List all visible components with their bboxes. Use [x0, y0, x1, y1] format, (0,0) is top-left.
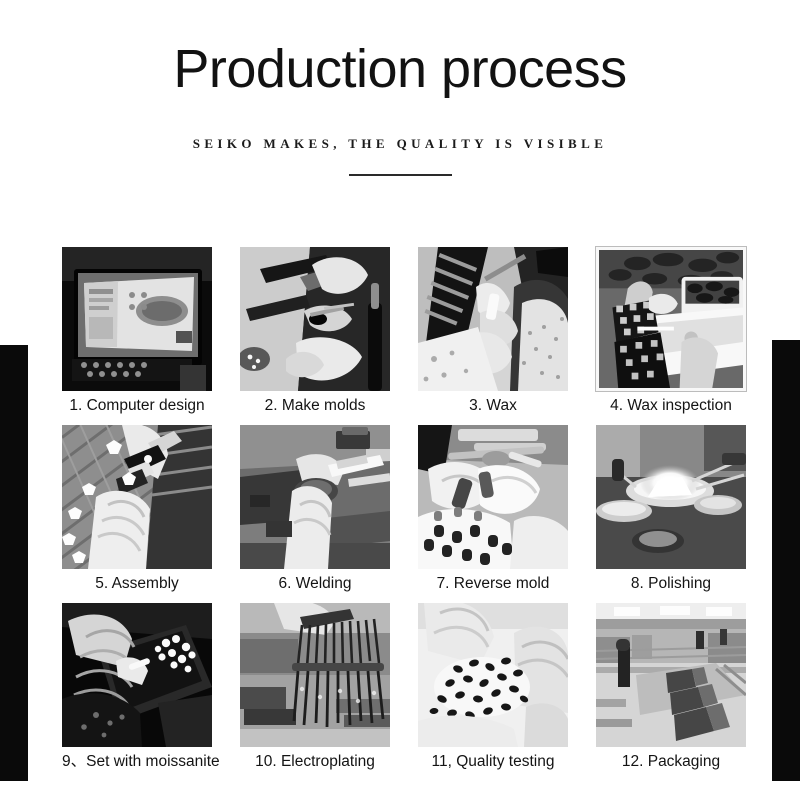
- step-caption: 5. Assembly: [62, 569, 212, 598]
- page-root: Production process SEIKO MAKES, THE QUAL…: [0, 0, 800, 795]
- page-title: Production process: [0, 0, 800, 100]
- step-image-polishing[interactable]: [596, 425, 746, 569]
- process-step-5[interactable]: 5. Assembly: [62, 425, 212, 598]
- step-caption: 12. Packaging: [596, 747, 746, 776]
- step-image-packaging[interactable]: [596, 603, 746, 747]
- process-step-11[interactable]: 11, Quality testing: [418, 603, 568, 776]
- process-step-4[interactable]: 4. Wax inspection: [596, 247, 746, 420]
- step-image-set-moissanite[interactable]: [62, 603, 212, 747]
- process-step-10[interactable]: 10. Electroplating: [240, 603, 390, 776]
- process-step-1[interactable]: 1. Computer design: [62, 247, 212, 420]
- step-image-wax-inspection[interactable]: [596, 247, 746, 391]
- page-header: Production process SEIKO MAKES, THE QUAL…: [0, 0, 800, 215]
- step-image-assembly[interactable]: [62, 425, 212, 569]
- step-image-quality-testing[interactable]: [418, 603, 568, 747]
- step-caption: 11, Quality testing: [418, 747, 568, 776]
- step-caption: 10. Electroplating: [240, 747, 390, 776]
- left-black-bar: [0, 345, 28, 781]
- page-subtitle: SEIKO MAKES, THE QUALITY IS VISIBLE: [0, 100, 800, 152]
- process-step-grid: 1. Computer design: [62, 247, 746, 776]
- process-step-12[interactable]: 12. Packaging: [596, 603, 746, 776]
- step-caption: 3. Wax: [418, 391, 568, 420]
- process-step-7[interactable]: 7. Reverse mold: [418, 425, 568, 598]
- step-image-make-molds[interactable]: [240, 247, 390, 391]
- step-caption: 4. Wax inspection: [596, 391, 746, 420]
- right-black-bar: [772, 340, 800, 781]
- step-caption: 7. Reverse mold: [418, 569, 568, 598]
- process-step-9[interactable]: 9、Set with moissanite: [62, 603, 212, 776]
- step-image-welding[interactable]: [240, 425, 390, 569]
- step-caption: 2. Make molds: [240, 391, 390, 420]
- process-step-2[interactable]: 2. Make molds: [240, 247, 390, 420]
- step-image-reverse-mold[interactable]: [418, 425, 568, 569]
- title-divider: [349, 174, 452, 176]
- step-caption: 8. Polishing: [596, 569, 746, 598]
- step-image-electroplating[interactable]: [240, 603, 390, 747]
- step-caption: 9、Set with moissanite: [62, 747, 212, 776]
- step-image-wax[interactable]: [418, 247, 568, 391]
- step-caption: 1. Computer design: [62, 391, 212, 420]
- process-step-6[interactable]: 6. Welding: [240, 425, 390, 598]
- step-caption: 6. Welding: [240, 569, 390, 598]
- step-image-computer-design[interactable]: [62, 247, 212, 391]
- process-step-3[interactable]: 3. Wax: [418, 247, 568, 420]
- process-step-8[interactable]: 8. Polishing: [596, 425, 746, 598]
